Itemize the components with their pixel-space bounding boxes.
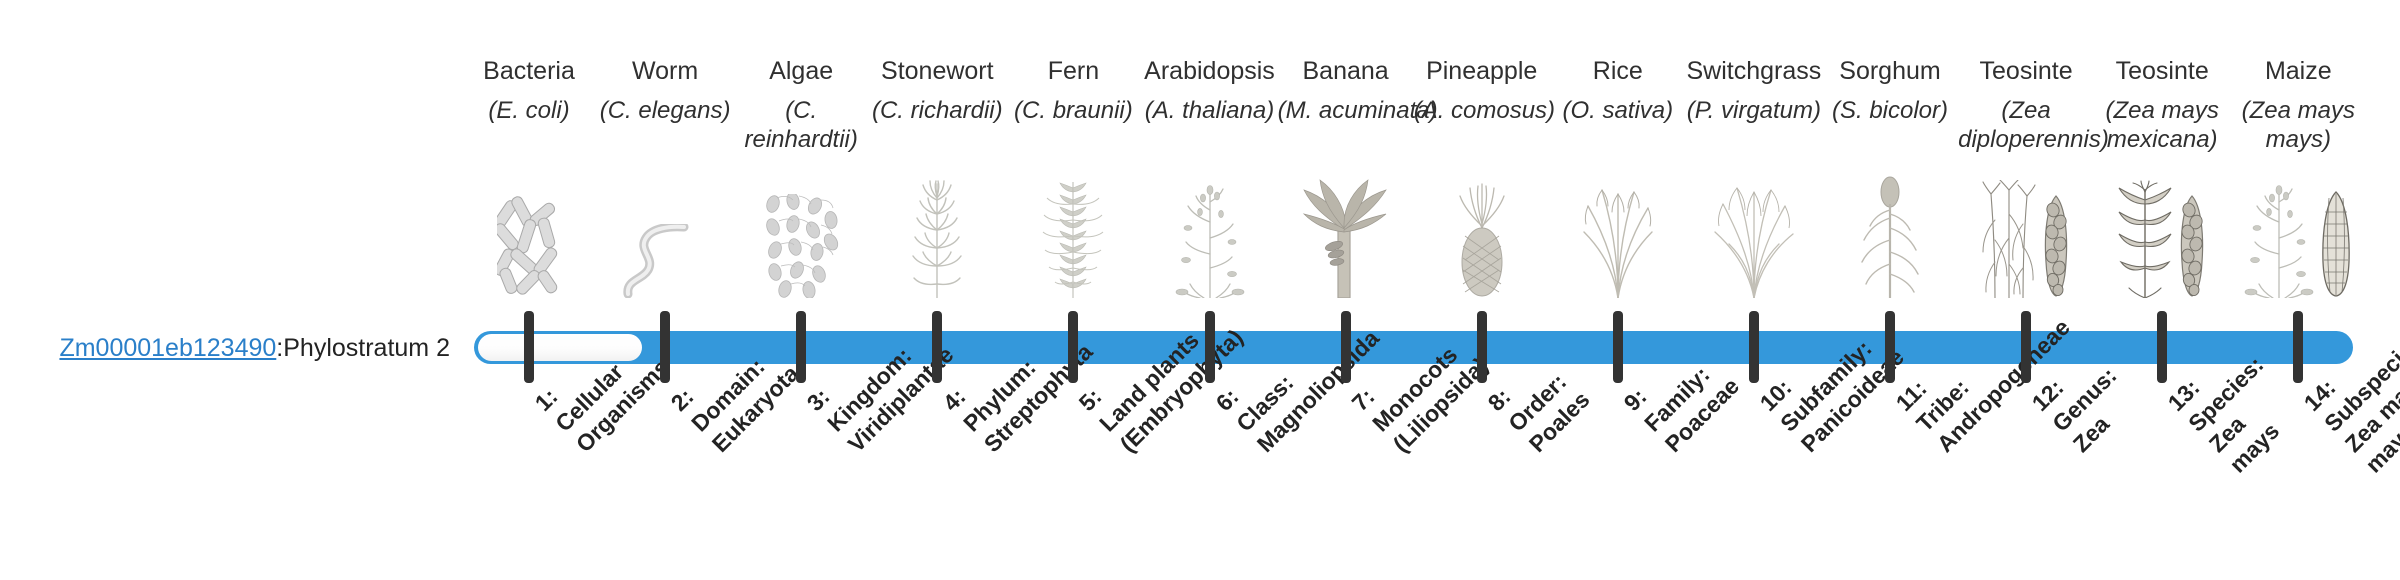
species-name-block: Pineapple(A. comosus) [1414, 56, 1550, 125]
species-common-name: Pineapple [1414, 56, 1550, 86]
phylostratum-value: Phylostratum 2 [283, 333, 450, 363]
gene-id-link[interactable]: Zm00001eb123490 [59, 333, 276, 363]
species-name-block: Banana(M. acuminata) [1278, 56, 1414, 125]
phylostratum-column-4: Stonewort(C. richardii) [869, 0, 1005, 580]
species-scientific-name: (Zea mays mays) [2230, 96, 2366, 154]
species-common-name: Sorghum [1822, 56, 1958, 86]
species-scientific-name: (A. thaliana) [1142, 96, 1278, 125]
maize-ear-illustration [2230, 168, 2366, 298]
species-scientific-name: (A. comosus) [1414, 96, 1550, 125]
species-name-block: Teosinte(Zea diploperennis) [1958, 56, 2094, 154]
species-common-name: Fern [1005, 56, 1141, 86]
species-name-block: Fern(C. braunii) [1005, 56, 1141, 125]
phylostratum-tick-9[interactable] [1613, 311, 1623, 383]
phylostratum-column-2: Worm(C. elegans) 2: Domain: Eukaryota [597, 0, 733, 580]
phylostratum-column-10: Switchgrass(P. virgatum) 10: Subfamily: … [1686, 0, 1822, 580]
species-scientific-name: (S. bicolor) [1822, 96, 1958, 125]
species-common-name: Banana [1278, 56, 1414, 86]
species-name-block: Switchgrass(P. virgatum) [1686, 56, 1822, 125]
fern-frond-illustration [1005, 168, 1141, 298]
phylostratum-column-1: Bacteria(E. coli) 1: Cellular Organisms [461, 0, 597, 580]
sorghum-plant-illustration [1822, 168, 1958, 298]
species-name-block: Sorghum(S. bicolor) [1822, 56, 1958, 125]
phylostratum-column-11: Sorghum(S. bicolor) 11: Tribe: Andropogo… [1822, 0, 1958, 580]
species-name-block: Worm(C. elegans) [597, 56, 733, 125]
species-name-block: Arabidopsis(A. thaliana) [1142, 56, 1278, 125]
bacteria-rods-illustration [461, 168, 597, 298]
species-name-block: Algae(C. reinhardtii) [733, 56, 869, 154]
species-common-name: Bacteria [461, 56, 597, 86]
species-scientific-name: (P. virgatum) [1686, 96, 1822, 125]
species-common-name: Switchgrass [1686, 56, 1822, 86]
arabidopsis-plant-illustration [1142, 168, 1278, 298]
stonewort-plant-illustration [869, 168, 1005, 298]
phylostratum-tick-4[interactable] [932, 311, 942, 383]
phylostratum-column-5: Fern(C. braunii) 5: Land plants [1005, 0, 1141, 580]
gene-phylostratum-label: Zm00001eb123490: Phylostratum 2 [0, 331, 450, 364]
phylostratum-tick-11[interactable] [1885, 311, 1895, 383]
species-scientific-name: (C. reinhardtii) [733, 96, 869, 154]
phylostratum-tick-1[interactable] [524, 311, 534, 383]
rice-plant-illustration [1550, 168, 1686, 298]
phylostratum-tick-13[interactable] [2157, 311, 2167, 383]
phylostratum-column-7: Banana(M. acuminata) 7: Monocots (Liliop… [1278, 0, 1414, 580]
species-common-name: Arabidopsis [1142, 56, 1278, 86]
algae-cells-illustration [733, 168, 869, 298]
phylostratum-tick-3[interactable] [796, 311, 806, 383]
species-scientific-name: (C. richardii) [869, 96, 1005, 125]
phylostratum-column-12: Teosinte(Zea diploperennis) [1958, 0, 2094, 580]
species-scientific-name: (E. coli) [461, 96, 597, 125]
species-common-name: Teosinte [1958, 56, 2094, 86]
phylostratum-column-13: Teosinte(Zea mays mexicana) [2094, 0, 2230, 580]
species-name-block: Teosinte(Zea mays mexicana) [2094, 56, 2230, 154]
species-name-block: Bacteria(E. coli) [461, 56, 597, 125]
species-scientific-name: (O. sativa) [1550, 96, 1686, 125]
phylostratum-tick-2[interactable] [660, 311, 670, 383]
teosinte-diploperennis-illustration [1958, 168, 2094, 298]
species-scientific-name: (C. elegans) [597, 96, 733, 125]
banana-plant-illustration [1278, 168, 1414, 298]
species-common-name: Rice [1550, 56, 1686, 86]
phylostratum-column-9: Rice(O. sativa) 9: Family: Poaceae [1550, 0, 1686, 580]
phylostratum-column-14: Maize(Zea mays mays) [2230, 0, 2366, 580]
phylostratum-column-3: Algae(C. reinhardtii) 3: [733, 0, 869, 580]
species-scientific-name: (C. braunii) [1005, 96, 1141, 125]
species-common-name: Algae [733, 56, 869, 86]
phylostratum-tick-6[interactable] [1205, 311, 1215, 383]
phylostratum-tick-12[interactable] [2021, 311, 2031, 383]
species-common-name: Maize [2230, 56, 2366, 86]
phylostratigraphy-figure: Zm00001eb123490: Phylostratum 2 Bacteria… [0, 0, 2400, 580]
species-scientific-name: (Zea diploperennis) [1958, 96, 2094, 154]
species-common-name: Stonewort [869, 56, 1005, 86]
phylostratum-tick-14[interactable] [2293, 311, 2303, 383]
switchgrass-illustration [1686, 168, 1822, 298]
gene-label-separator: : [276, 333, 283, 363]
pineapple-illustration [1414, 168, 1550, 298]
species-common-name: Teosinte [2094, 56, 2230, 86]
species-scientific-name: (M. acuminata) [1278, 96, 1414, 125]
species-name-block: Maize(Zea mays mays) [2230, 56, 2366, 154]
phylostratum-tick-7[interactable] [1341, 311, 1351, 383]
phylostratum-column-8: Pineapple(A. comosus) 8: Order: Poales [1414, 0, 1550, 580]
species-scientific-name: (Zea mays mexicana) [2094, 96, 2230, 154]
teosinte-mexicana-illustration [2094, 168, 2230, 298]
phylostratum-column-6: Arabidopsis(A. thaliana) 6: Class: Magno… [1142, 0, 1278, 580]
phylostratum-tick-8[interactable] [1477, 311, 1487, 383]
species-common-name: Worm [597, 56, 733, 86]
nematode-worm-illustration [597, 168, 733, 298]
species-name-block: Rice(O. sativa) [1550, 56, 1686, 125]
species-name-block: Stonewort(C. richardii) [869, 56, 1005, 125]
phylostratum-tick-10[interactable] [1749, 311, 1759, 383]
phylostratum-tick-5[interactable] [1068, 311, 1078, 383]
